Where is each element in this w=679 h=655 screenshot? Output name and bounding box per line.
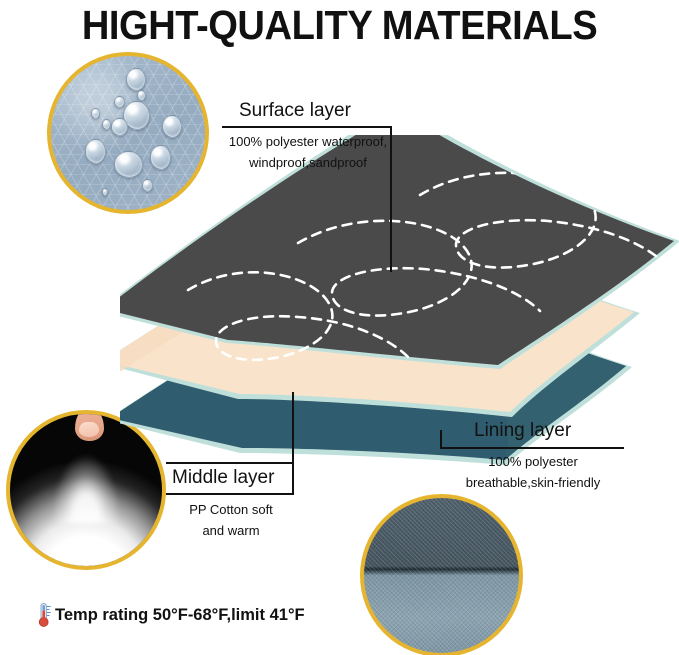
fabric-weave-texture bbox=[364, 498, 519, 653]
lining-description-line-1: 100% polyester bbox=[440, 451, 626, 472]
temp-rating-text: Temp rating 50°F-68°F,limit 41°F bbox=[55, 606, 305, 625]
middle-description-line-2: and warm bbox=[166, 520, 296, 541]
middle-callout-leader-line bbox=[292, 392, 294, 494]
lining-layer-description: 100% polyester breathable,skin-friendly bbox=[440, 451, 626, 494]
surface-layer-title: Surface layer bbox=[239, 100, 351, 122]
middle-layer-title: Middle layer bbox=[172, 467, 274, 489]
lining-layer-title: Lining layer bbox=[474, 420, 571, 442]
water-droplet bbox=[102, 188, 108, 196]
lining-callout-leader-line bbox=[440, 430, 442, 448]
lining-callout-rule-top bbox=[440, 447, 624, 449]
middle-description-line-1: PP Cotton soft bbox=[166, 499, 296, 520]
middle-callout-rule-top bbox=[166, 462, 294, 464]
surface-description-line-1: 100% polyester waterproof, bbox=[222, 131, 394, 152]
water-droplet bbox=[114, 96, 125, 108]
water-droplet bbox=[137, 90, 146, 101]
water-droplet bbox=[111, 118, 128, 136]
surface-layer-description: 100% polyester waterproof, windproof,san… bbox=[222, 131, 394, 174]
water-droplet bbox=[85, 139, 107, 164]
middle-callout-rule-bottom bbox=[166, 493, 294, 495]
surface-description-line-2: windproof,sandproof bbox=[222, 152, 394, 173]
water-droplet bbox=[102, 119, 111, 130]
exploded-layer-diagram bbox=[120, 135, 679, 495]
page-title: HIGHT-QUALITY MATERIALS bbox=[24, 2, 655, 49]
lining-layer-photo-circle bbox=[360, 494, 523, 655]
lining-description-line-2: breathable,skin-friendly bbox=[440, 472, 626, 493]
middle-layer-description: PP Cotton soft and warm bbox=[166, 499, 296, 542]
cotton-fiber-wisp bbox=[46, 435, 125, 523]
thermometer-icon bbox=[36, 602, 52, 628]
surface-callout-rule-top bbox=[222, 126, 392, 128]
temp-rating-row: Temp rating 50°F-68°F,limit 41°F bbox=[36, 602, 305, 628]
product-material-infographic: HIGHT-QUALITY MATERIALS bbox=[0, 0, 679, 655]
fingernail bbox=[79, 422, 99, 437]
